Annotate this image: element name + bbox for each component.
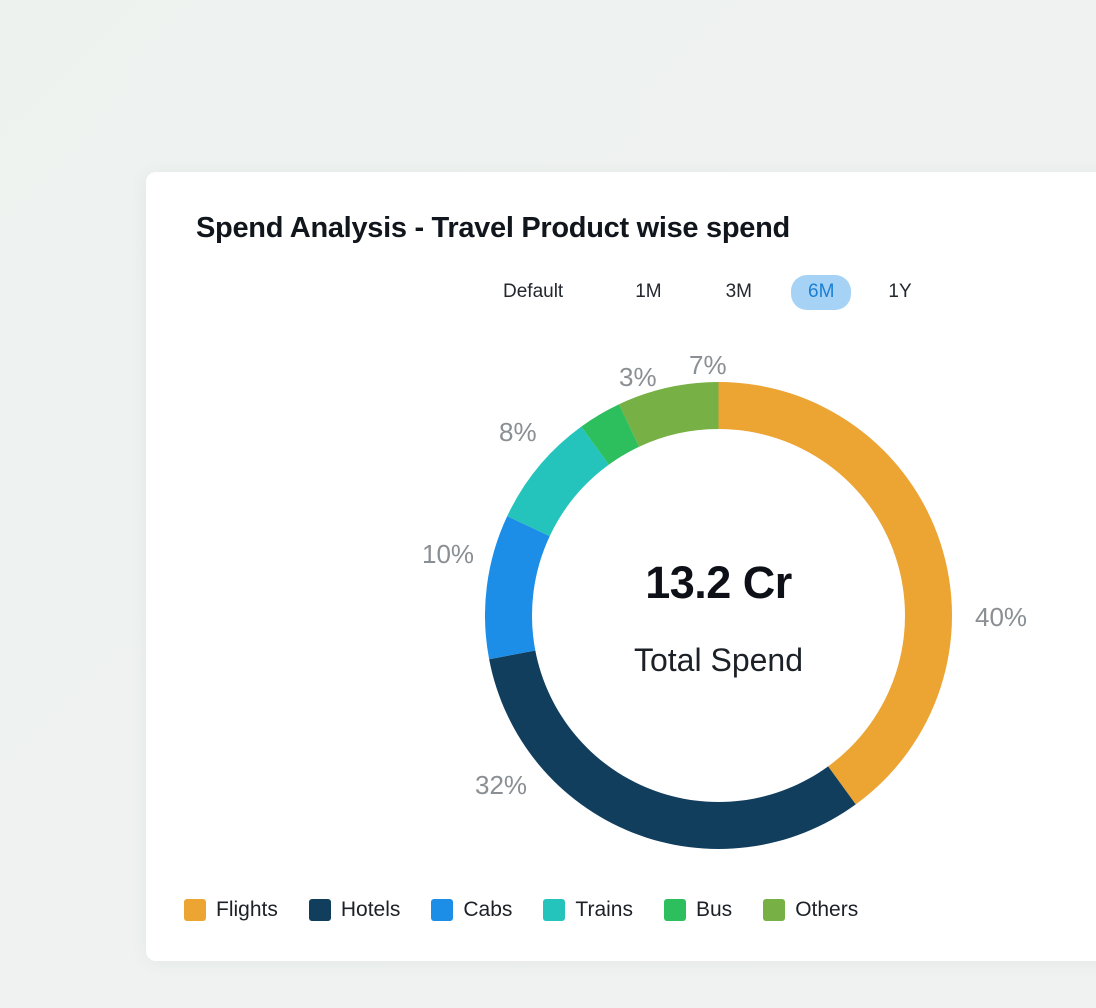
legend-swatch-icon (431, 899, 453, 921)
legend-swatch-icon (309, 899, 331, 921)
donut-slice-hotels[interactable] (489, 650, 856, 849)
legend-label: Flights (216, 898, 278, 922)
legend: Flights Hotels Cabs Trains Bus Others (184, 898, 889, 922)
legend-label: Hotels (341, 898, 401, 922)
tab-1m[interactable]: 1M (618, 275, 678, 310)
slice-label-flights: 40% (975, 602, 1027, 633)
legend-item-cabs[interactable]: Cabs (431, 898, 512, 922)
page-title: Spend Analysis - Travel Product wise spe… (196, 212, 790, 245)
page-root: Spend Analysis - Travel Product wise spe… (0, 0, 1096, 1008)
legend-item-others[interactable]: Others (763, 898, 858, 922)
legend-item-flights[interactable]: Flights (184, 898, 278, 922)
slice-label-cabs: 10% (422, 539, 474, 570)
legend-label: Cabs (463, 898, 512, 922)
tab-default[interactable]: Default (486, 275, 580, 310)
legend-label: Others (795, 898, 858, 922)
legend-swatch-icon (763, 899, 785, 921)
legend-swatch-icon (184, 899, 206, 921)
legend-item-trains[interactable]: Trains (543, 898, 633, 922)
legend-label: Bus (696, 898, 732, 922)
tab-1y[interactable]: 1Y (871, 275, 928, 310)
tab-6m[interactable]: 6M (791, 275, 851, 310)
slice-label-others: 7% (689, 350, 727, 381)
legend-label: Trains (575, 898, 633, 922)
tab-3m[interactable]: 3M (709, 275, 769, 310)
donut-slice-cabs[interactable] (485, 516, 550, 659)
legend-item-hotels[interactable]: Hotels (309, 898, 401, 922)
date-range-tabs: Default 1M 3M 6M 1Y (486, 275, 929, 310)
donut-slice-flights[interactable] (719, 382, 953, 804)
legend-swatch-icon (543, 899, 565, 921)
legend-item-bus[interactable]: Bus (664, 898, 732, 922)
legend-swatch-icon (664, 899, 686, 921)
donut-chart-svg[interactable] (485, 382, 952, 849)
spend-analysis-card: Spend Analysis - Travel Product wise spe… (146, 172, 1096, 961)
